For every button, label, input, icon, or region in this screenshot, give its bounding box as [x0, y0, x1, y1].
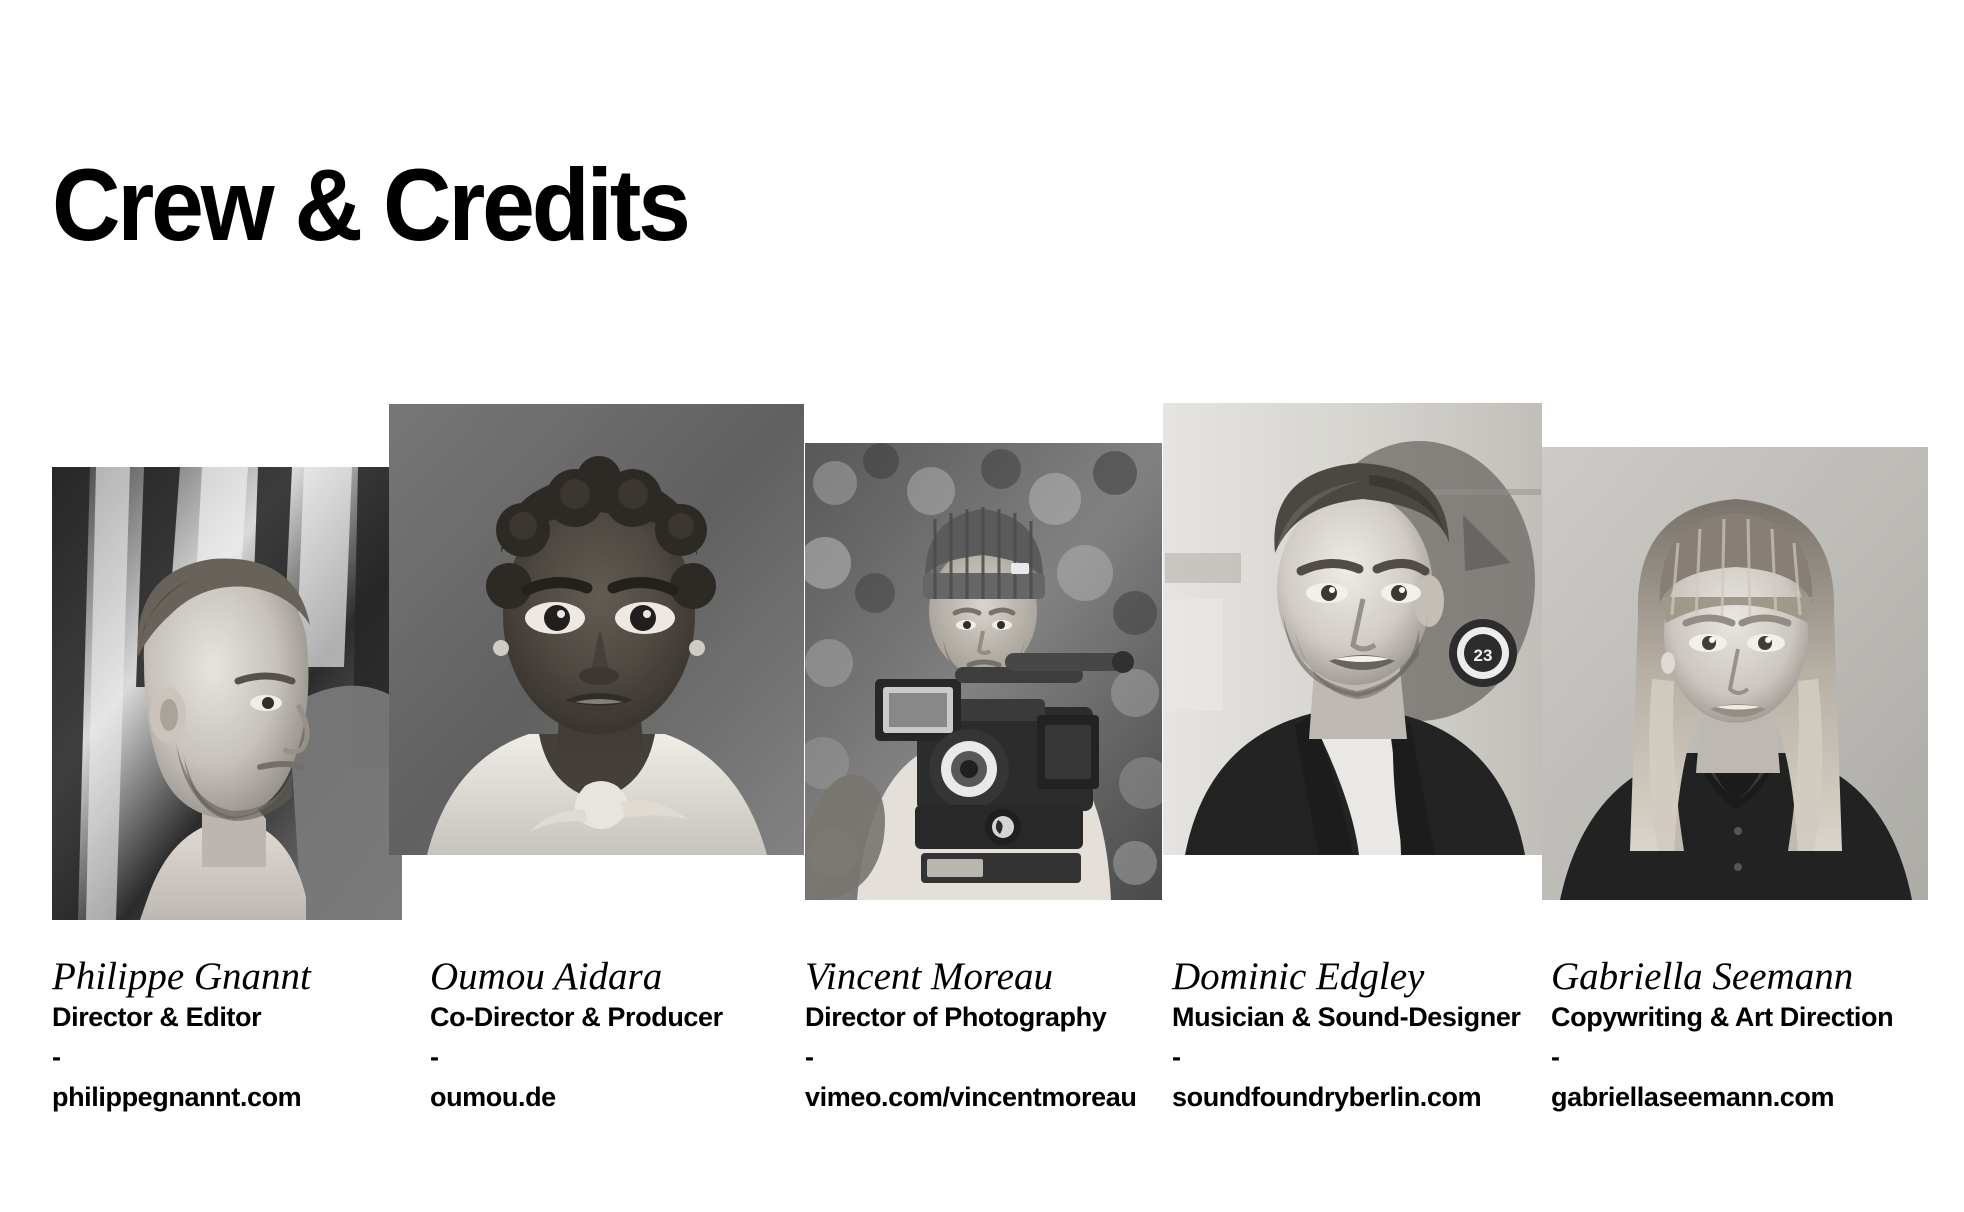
portrait-gabriella-seemann — [1542, 447, 1928, 900]
credit-item-2: Vincent Moreau Director of Photography -… — [805, 955, 1155, 1115]
credit-website-link[interactable]: vimeo.com/vincentmoreau — [805, 1079, 1155, 1115]
crew-photo-strip: 23 — [0, 0, 1964, 930]
credit-separator: - — [1551, 1035, 1931, 1079]
credit-role: Director of Photography — [805, 999, 1155, 1035]
credit-role: Co-Director & Producer — [430, 999, 790, 1035]
credit-role: Director & Editor — [52, 999, 412, 1035]
credit-name: Oumou Aidara — [430, 955, 790, 999]
credit-item-3: Dominic Edgley Musician & Sound-Designer… — [1172, 955, 1532, 1115]
credit-website-link[interactable]: soundfoundryberlin.com — [1172, 1079, 1532, 1115]
credit-role: Copywriting & Art Direction — [1551, 999, 1931, 1035]
credit-item-4: Gabriella Seemann Copywriting & Art Dire… — [1551, 955, 1931, 1115]
credit-website-link[interactable]: philippegnannt.com — [52, 1079, 412, 1115]
credit-item-0: Philippe Gnannt Director & Editor - phil… — [52, 955, 412, 1115]
credit-name: Dominic Edgley — [1172, 955, 1532, 999]
credit-name: Philippe Gnannt — [52, 955, 412, 999]
credit-separator: - — [52, 1035, 412, 1079]
portrait-philippe-gnannt — [52, 467, 402, 920]
portrait-vincent-moreau — [805, 443, 1162, 900]
credit-role: Musician & Sound-Designer — [1172, 999, 1532, 1035]
credit-item-1: Oumou Aidara Co-Director & Producer - ou… — [430, 955, 790, 1115]
portrait-dominic-edgley: 23 — [1163, 403, 1542, 855]
credit-website-link[interactable]: gabriellaseemann.com — [1551, 1079, 1931, 1115]
credit-name: Gabriella Seemann — [1551, 955, 1931, 999]
credit-separator: - — [805, 1035, 1155, 1079]
portrait-oumou-aidara — [389, 404, 804, 855]
credit-separator: - — [430, 1035, 790, 1079]
credit-separator: - — [1172, 1035, 1532, 1079]
crew-credits-list: Philippe Gnannt Director & Editor - phil… — [0, 955, 1964, 1155]
credit-website-link[interactable]: oumou.de — [430, 1079, 790, 1115]
credit-name: Vincent Moreau — [805, 955, 1155, 999]
